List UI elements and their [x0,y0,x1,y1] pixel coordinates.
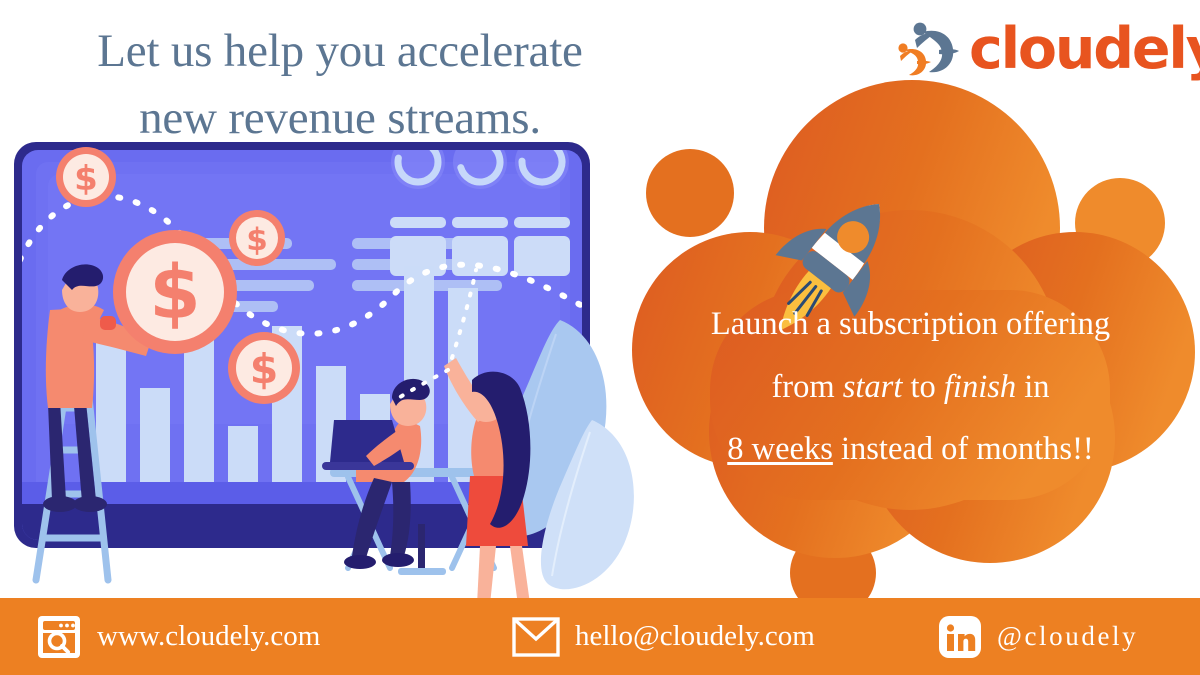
footer-email[interactable]: hello@cloudely.com [512,598,815,675]
svg-text:$: $ [74,159,98,199]
coin-large-center: $ [113,230,237,354]
svg-text:$: $ [149,250,201,336]
envelope-icon [512,617,560,657]
footer-website[interactable]: www.cloudely.com [36,598,320,675]
browser-search-icon [36,614,82,660]
callout-line-2: from start to finish in [638,356,1183,419]
contact-footer: www.cloudely.com hello@cloudely.com [0,598,1200,675]
svg-text:$: $ [246,222,268,258]
linkedin-label: @cloudely [997,621,1138,652]
website-label: www.cloudely.com [97,620,320,653]
callout-emphasis-finish: finish [944,369,1016,405]
decor-circle-left [646,149,734,237]
hero-illustration: $ $ $ $ [0,120,640,600]
footer-linkedin[interactable]: @cloudely [938,598,1138,675]
coin-small-top-right: $ [229,210,285,266]
callout-line-1: Launch a subscription offering [638,293,1183,356]
coin-small-mid: $ [228,332,300,404]
callout-line-3: 8 weeks instead of months!! [638,418,1183,481]
callout-duration: 8 weeks [727,431,833,467]
svg-text:$: $ [250,345,279,393]
callout-emphasis-start: start [843,369,903,405]
callout-text: Launch a subscription offering from star… [638,293,1183,481]
coin-small-top-left: $ [56,147,116,207]
linkedin-icon [938,615,982,659]
callout-cloud: Launch a subscription offering from star… [620,60,1200,600]
email-label: hello@cloudely.com [575,620,815,653]
poster-canvas: Let us help you accelerate new revenue s… [0,0,1200,675]
headline-line-1: Let us help you accelerate [20,18,660,85]
